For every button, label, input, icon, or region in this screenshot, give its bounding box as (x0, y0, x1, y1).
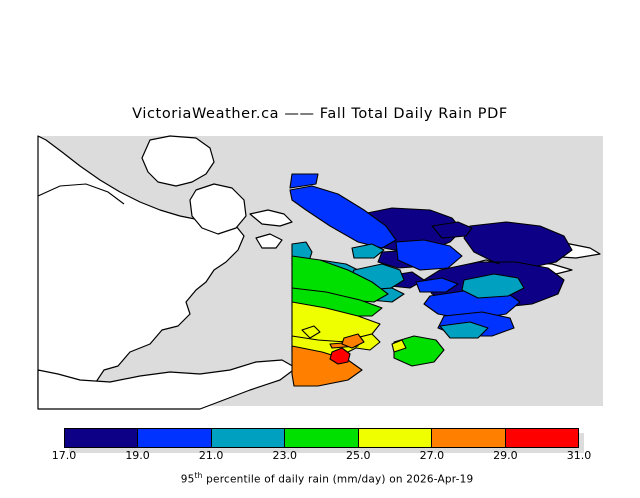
colorbar-segment-23.0-25.0 (285, 429, 358, 447)
map-panel (0, 130, 640, 415)
colorbar-segment-25.0-27.0 (359, 429, 432, 447)
colorbar-segment-29.0-31.0 (506, 429, 578, 447)
colorbar-segment-17.0-19.0 (65, 429, 138, 447)
page-title: VictoriaWeather.ca —— Fall Total Daily R… (0, 106, 640, 122)
colorbar-caption: 95th percentile of daily rain (mm/day) o… (0, 459, 640, 498)
screenshot-root: VictoriaWeather.ca —— Fall Total Daily R… (0, 0, 640, 480)
colorbar-gradient (64, 428, 579, 448)
colorbar (64, 428, 579, 448)
colorbar-segment-27.0-29.0 (432, 429, 505, 447)
colorbar-segment-19.0-21.0 (138, 429, 211, 447)
colorbar-caption-superscript: th (195, 471, 203, 480)
precipitation-map (0, 130, 640, 415)
colorbar-segment-21.0-23.0 (212, 429, 285, 447)
